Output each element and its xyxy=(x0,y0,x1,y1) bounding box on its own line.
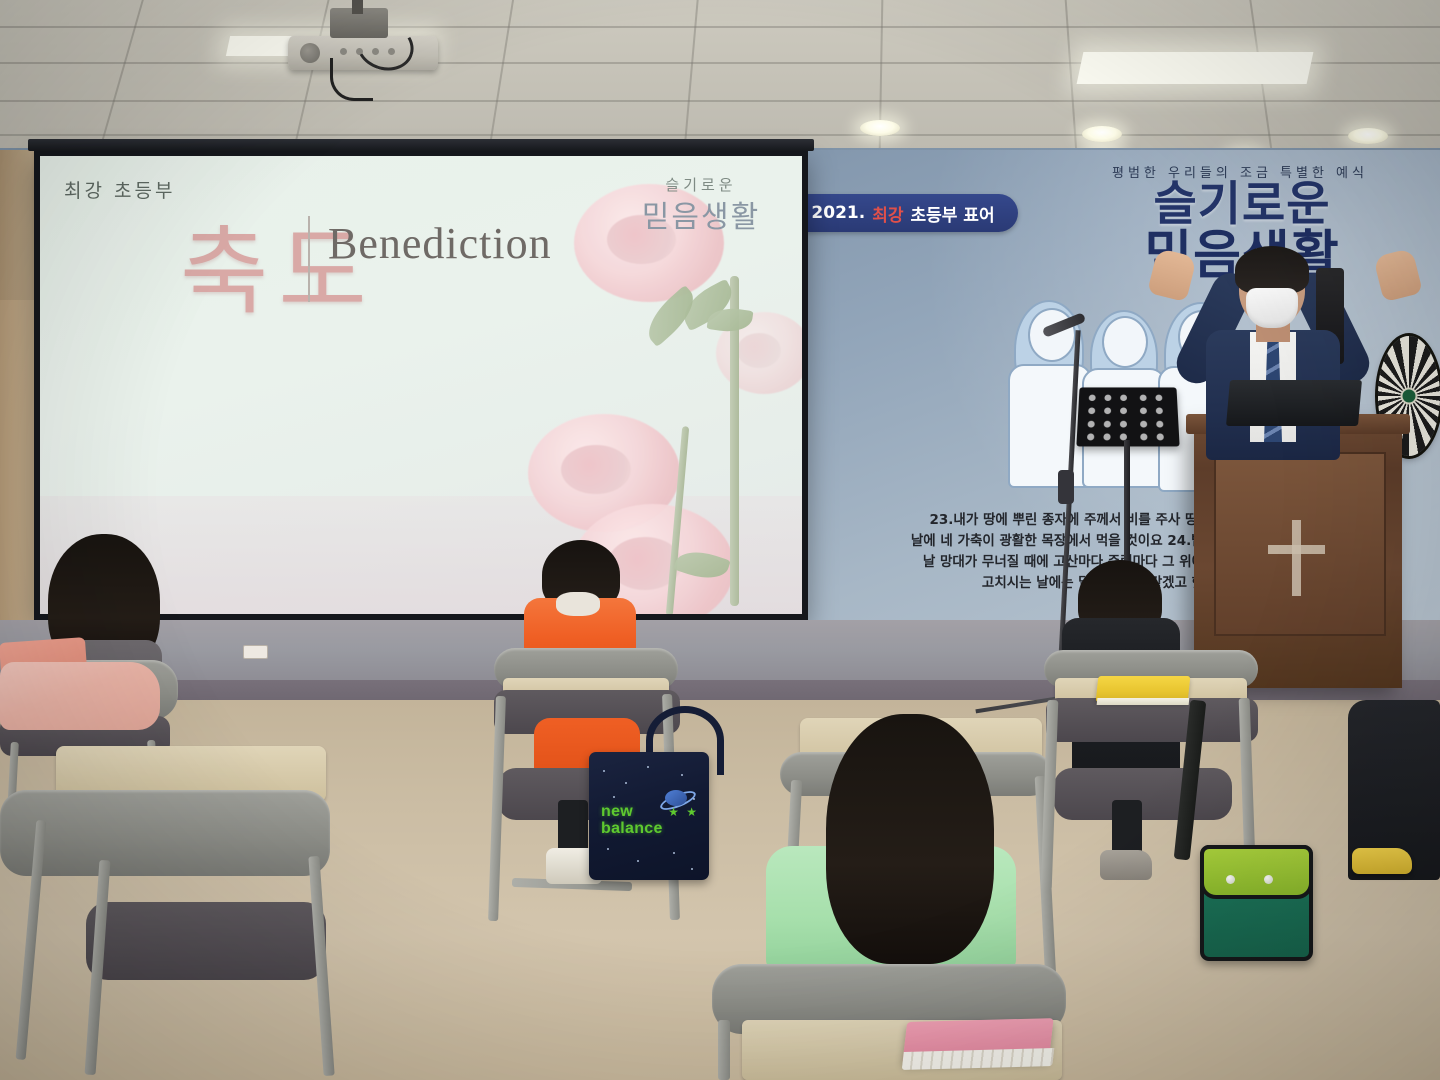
shoe xyxy=(1100,850,1152,880)
panel-light xyxy=(1077,52,1314,84)
slide-main-english: Benediction xyxy=(328,218,552,269)
chair-seat xyxy=(86,902,326,980)
banner-illustration-figure xyxy=(1102,316,1148,368)
projection-screen-frame: 최강 초등부 축도 Benediction 슬기로운 믿음생활 xyxy=(34,150,808,620)
star-icon: ★ ★ xyxy=(668,805,699,819)
pink-coat-on-chair xyxy=(0,662,160,730)
nb-line-2: balance xyxy=(601,821,697,838)
bag-stud xyxy=(1226,875,1235,884)
classroom-photo: 2021. 최강 초등부 표어 평범한 우리들의 조금 특별한 예식 슬기로운 … xyxy=(0,0,1440,1080)
downlight xyxy=(860,120,900,136)
bag-stud xyxy=(1264,875,1273,884)
downlight xyxy=(1082,126,1122,142)
banner-title-line1: 슬기로운 xyxy=(1072,182,1412,228)
cross-icon xyxy=(1268,545,1325,554)
face-mask-icon xyxy=(1246,288,1298,328)
wall-outlet xyxy=(243,645,268,659)
hair xyxy=(826,714,994,964)
projector-arm xyxy=(352,0,363,14)
yellow-sneaker xyxy=(1352,848,1412,874)
pastor-hair xyxy=(1235,246,1309,294)
projector-lens xyxy=(300,43,320,63)
badge-rest: 초등부 표어 xyxy=(910,201,994,226)
banner-badge: 2021. 최강 초등부 표어 xyxy=(788,194,1018,232)
chair-leg xyxy=(718,1020,730,1080)
hoodie-collar xyxy=(556,592,600,616)
slide-header-text: 최강 초등부 xyxy=(64,176,175,203)
chair-back xyxy=(0,790,330,876)
drop-ceiling xyxy=(0,0,1440,152)
bag-flap xyxy=(1200,845,1313,899)
music-stand xyxy=(1076,387,1179,446)
badge-year: 2021. xyxy=(811,203,865,223)
laptop-on-podium xyxy=(1226,380,1362,426)
projection-screen: 최강 초등부 축도 Benediction 슬기로운 믿음생활 xyxy=(40,156,802,614)
book-page-edges xyxy=(1097,698,1190,705)
door-left xyxy=(0,300,34,630)
dartboard-bullseye xyxy=(1401,388,1418,405)
new-balance-tote-bag: new balance ★ ★ xyxy=(589,752,709,880)
slide-divider xyxy=(308,216,310,302)
chair-seat-cushion xyxy=(1054,768,1232,820)
screen-roller-bar xyxy=(28,139,814,151)
cross-icon xyxy=(1292,520,1301,596)
downlight xyxy=(1348,128,1388,144)
badge-highlight: 최강 xyxy=(872,201,903,226)
mic-stand-clutch xyxy=(1058,470,1074,504)
green-shoulder-bag xyxy=(1200,845,1313,961)
slide-corner-big: 믿음생활 xyxy=(626,192,776,236)
